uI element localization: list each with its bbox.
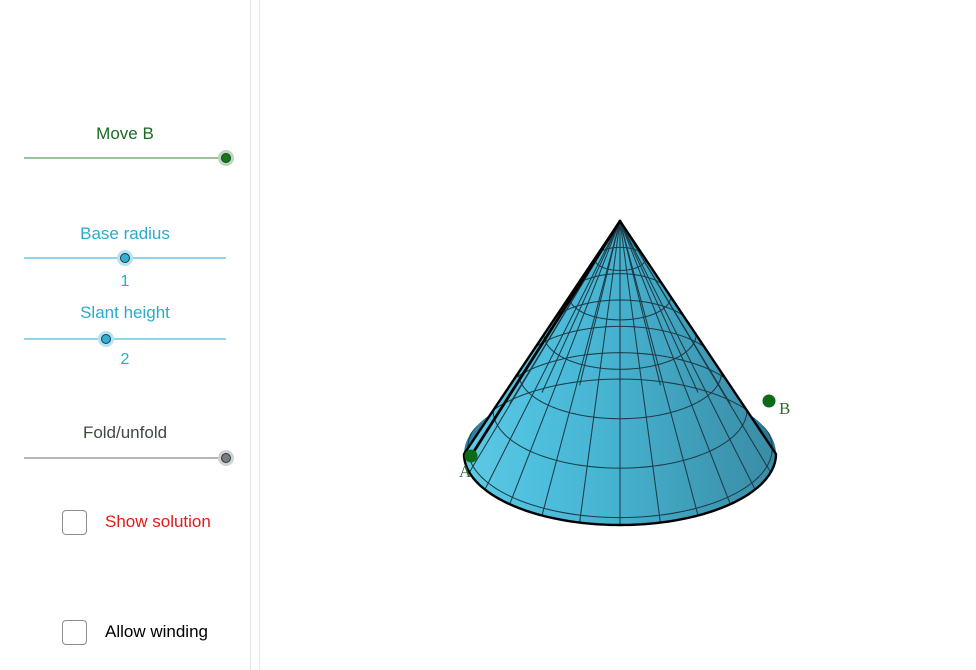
slider-fold-unfold[interactable] [24,448,226,468]
checkbox-label-show-solution: Show solution [105,512,211,532]
checkbox-show-solution[interactable] [62,510,87,535]
slider-value-base-radius: 1 [0,273,250,291]
slider-move-b[interactable] [24,148,226,168]
panel-divider[interactable] [250,0,260,670]
slider-value-slant-height: 2 [0,351,250,369]
checkbox-row-allow-winding[interactable]: Allow winding [62,619,208,645]
slider-track-move-b[interactable] [24,157,226,159]
slider-track-fold-unfold[interactable] [24,457,226,459]
slider-label-fold-unfold: Fold/unfold [0,423,250,443]
checkbox-row-show-solution[interactable]: Show solution [62,509,211,535]
slider-knob-inner-move-b [221,153,231,163]
graphics-view-3d[interactable]: A B [260,0,976,670]
slider-slant-height[interactable] [24,329,226,349]
slider-knob-inner-slant-height [101,334,111,344]
point-a[interactable] [465,450,478,463]
slider-knob-slant-height[interactable] [98,331,114,347]
point-label-a: A [459,463,471,481]
point-b[interactable] [763,395,776,408]
slider-label-slant-height: Slant height [0,303,250,323]
slider-base-radius[interactable] [24,248,226,268]
control-panel: Move B Base radius 1 Slant height 2 Fold… [0,0,250,670]
checkbox-label-allow-winding: Allow winding [105,622,208,642]
slider-knob-base-radius[interactable] [117,250,133,266]
slider-knob-inner-base-radius [120,253,130,263]
slider-knob-move-b[interactable] [218,150,234,166]
slider-label-move-b: Move B [0,124,250,144]
slider-knob-fold-unfold[interactable] [218,450,234,466]
slider-label-base-radius: Base radius [0,224,250,244]
checkbox-allow-winding[interactable] [62,620,87,645]
point-label-b: B [779,400,790,418]
slider-track-slant-height[interactable] [24,338,226,340]
slider-knob-inner-fold-unfold [221,453,231,463]
applet-root: Move B Base radius 1 Slant height 2 Fold… [0,0,976,670]
cone-scene[interactable] [260,0,976,670]
